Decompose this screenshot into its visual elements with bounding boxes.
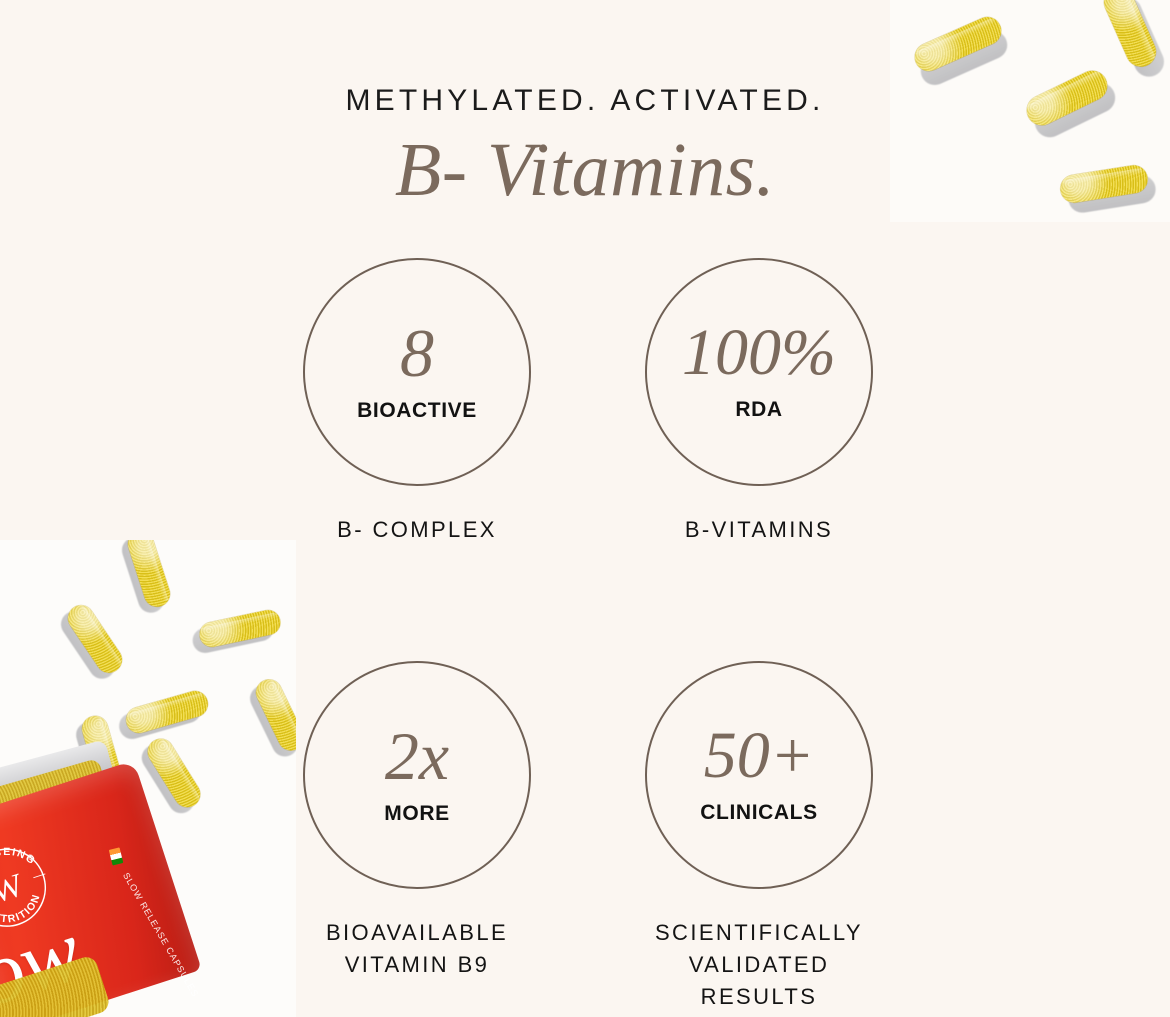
stats-row-bottom: 2x MORE BIOAVAILABLE VITAMIN B9 50+ CLIN… xyxy=(303,661,873,1013)
stats-grid: 8 BIOACTIVE B- COMPLEX 100% RDA B-VITAMI… xyxy=(303,258,873,1013)
product-photo-bottom-left: WELLBEING NUTRITION W — — ® SLOW RELEASE… xyxy=(0,540,296,1017)
stat-caption: SCIENTIFICALLY VALIDATED RESULTS xyxy=(645,917,873,1013)
stat-item-clinicals: 50+ CLINICALS SCIENTIFICALLY VALIDATED R… xyxy=(645,661,873,1013)
stat-item-rda: 100% RDA B-VITAMINS xyxy=(645,258,873,546)
circle-badge-icon: 8 BIOACTIVE xyxy=(303,258,531,486)
circle-badge-icon: 50+ CLINICALS xyxy=(645,661,873,889)
infographic-page: METHYLATED. ACTIVATED. B- Vitamins. 8 BI… xyxy=(0,0,1170,1017)
stat-label: BIOACTIVE xyxy=(357,399,477,423)
bottle-side-text: SLOW RELEASE CAPSULES xyxy=(121,871,201,999)
stat-caption: BIOAVAILABLE VITAMIN B9 xyxy=(326,917,508,981)
svg-text:W: W xyxy=(0,867,28,911)
stat-value: 2x xyxy=(385,724,449,789)
stat-value: 8 xyxy=(400,321,434,386)
circle-badge-icon: 2x MORE xyxy=(303,661,531,889)
stats-row-top: 8 BIOACTIVE B- COMPLEX 100% RDA B-VITAMI… xyxy=(303,258,873,546)
stat-item-more: 2x MORE BIOAVAILABLE VITAMIN B9 xyxy=(303,661,531,1013)
capsule-photo-top-right xyxy=(890,0,1170,222)
stat-item-bioactive: 8 BIOACTIVE B- COMPLEX xyxy=(303,258,531,546)
stat-label: CLINICALS xyxy=(700,801,817,825)
stat-caption: B- COMPLEX xyxy=(337,514,497,546)
stat-value: 50+ xyxy=(704,725,815,788)
stat-label: RDA xyxy=(735,398,782,422)
india-flag-icon xyxy=(109,847,124,865)
stat-label: MORE xyxy=(384,802,449,826)
stat-value: 100% xyxy=(682,322,836,385)
stat-caption: B-VITAMINS xyxy=(685,514,833,546)
circle-badge-icon: 100% RDA xyxy=(645,258,873,486)
